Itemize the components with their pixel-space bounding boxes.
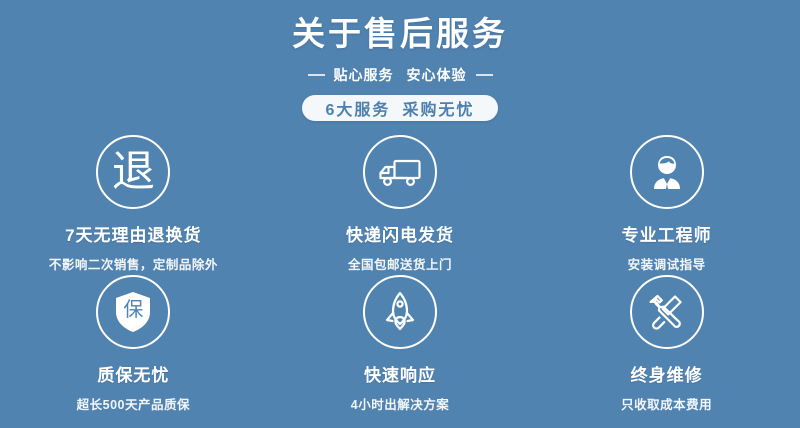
rocket-icon bbox=[363, 275, 437, 349]
badge-right-text: 采购无忧 bbox=[402, 96, 474, 120]
service-desc: 不影响二次销售，定制品除外 bbox=[49, 254, 218, 273]
subtitle-word-2: 安心体验 bbox=[407, 65, 467, 85]
page-title: 关于售后服务 bbox=[0, 12, 800, 56]
service-desc: 超长500天产品质保 bbox=[77, 394, 190, 413]
return-character-icon: 退 bbox=[96, 135, 170, 209]
service-title: 终身维修 bbox=[631, 361, 703, 386]
service-item-response: 快速响应 4小时出解决方案 bbox=[267, 275, 534, 415]
service-desc: 只收取成本费用 bbox=[621, 394, 712, 413]
wrench-screwdriver-icon bbox=[630, 275, 704, 349]
status-badge: 6大服务 采购无忧 bbox=[302, 95, 498, 121]
services-grid: 退 7天无理由退换货 不影响二次销售，定制品除外 快递闪电发货 全国包邮送货上门 bbox=[0, 135, 800, 415]
subtitle-right-dash-icon bbox=[476, 74, 493, 76]
service-item-return: 退 7天无理由退换货 不影响二次销售，定制品除外 bbox=[0, 135, 267, 275]
subtitle-word-1: 贴心服务 bbox=[334, 65, 394, 85]
subtitle-left-dash-icon bbox=[308, 74, 325, 76]
return-character-glyph: 退 bbox=[112, 151, 155, 194]
badge-row: 6大服务 采购无忧 bbox=[0, 95, 800, 121]
banner-header: 关于售后服务 贴心服务 安心体验 6大服务 采购无忧 bbox=[0, 0, 800, 121]
service-title: 快递闪电发货 bbox=[346, 221, 454, 246]
service-title: 7天无理由退换货 bbox=[65, 221, 201, 246]
subtitle-words: 贴心服务 安心体验 bbox=[334, 65, 467, 85]
service-item-repair: 终身维修 只收取成本费用 bbox=[533, 275, 800, 415]
warranty-shield-icon: 保 bbox=[96, 275, 170, 349]
badge-left-text: 6大服务 bbox=[326, 96, 391, 120]
service-item-warranty: 保 质保无忧 超长500天产品质保 bbox=[0, 275, 267, 415]
warranty-shield-glyph: 保 bbox=[112, 299, 154, 319]
service-title: 快速响应 bbox=[364, 361, 436, 386]
service-desc: 4小时出解决方案 bbox=[351, 394, 449, 413]
service-item-shipping: 快递闪电发货 全国包邮送货上门 bbox=[267, 135, 534, 275]
service-desc: 全国包邮送货上门 bbox=[348, 254, 452, 273]
delivery-truck-icon bbox=[363, 135, 437, 209]
banner-subtitle: 贴心服务 安心体验 bbox=[0, 65, 800, 85]
after-sales-service-banner: 关于售后服务 贴心服务 安心体验 6大服务 采购无忧 退 7天无理由退换货 不影… bbox=[0, 0, 800, 428]
engineer-person-icon bbox=[630, 135, 704, 209]
service-title: 专业工程师 bbox=[622, 221, 712, 246]
service-item-engineer: 专业工程师 安装调试指导 bbox=[533, 135, 800, 275]
service-title: 质保无忧 bbox=[97, 361, 169, 386]
service-desc: 安装调试指导 bbox=[628, 254, 706, 273]
